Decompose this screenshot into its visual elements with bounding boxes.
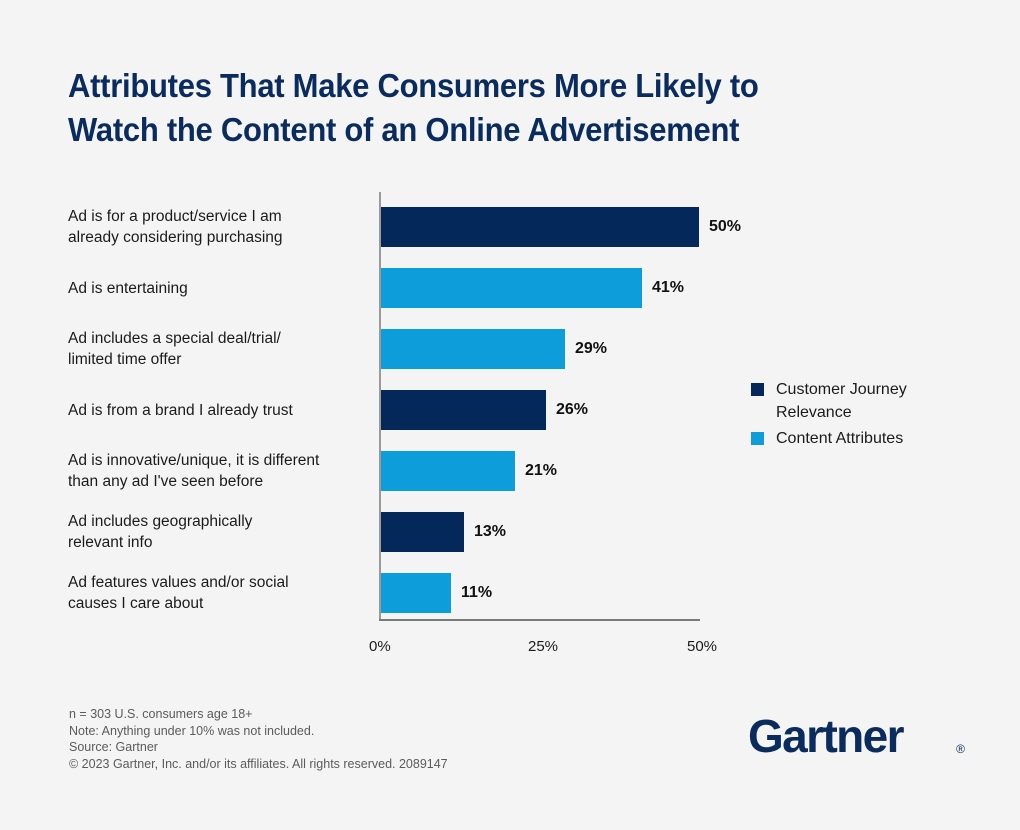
- legend-item[interactable]: Content Attributes: [751, 427, 981, 450]
- legend-color-swatch-icon: [751, 383, 764, 396]
- bar-category-label: Ad is entertaining: [68, 278, 368, 299]
- bar-value-label: 11%: [461, 573, 492, 613]
- bar: [381, 573, 451, 613]
- bar: [381, 329, 565, 369]
- bar: [381, 512, 464, 552]
- registered-trademark-icon: ®: [956, 742, 965, 756]
- bar: [381, 451, 515, 491]
- bar-category-label: Ad includes geographically relevant info: [68, 511, 368, 553]
- gartner-logo-text: Gartner: [748, 710, 903, 762]
- chart-page: Attributes That Make Consumers More Like…: [0, 0, 1020, 830]
- legend-item[interactable]: Customer Journey Relevance: [751, 378, 981, 424]
- bar-value-label: 21%: [525, 451, 557, 491]
- bar-value-label: 41%: [652, 268, 684, 308]
- legend-label: Content Attributes: [776, 427, 903, 450]
- x-axis-tick-label: 25%: [528, 638, 558, 655]
- bar-category-label: Ad includes a special deal/trial/ limite…: [68, 328, 368, 370]
- bar-value-label: 26%: [556, 390, 588, 430]
- x-axis-tick-label: 0%: [369, 638, 391, 655]
- chart-legend: Customer Journey RelevanceContent Attrib…: [751, 378, 981, 453]
- legend-color-swatch-icon: [751, 432, 764, 445]
- footnote-line: © 2023 Gartner, Inc. and/or its affiliat…: [69, 756, 589, 773]
- gartner-logo: Gartner ®: [748, 712, 963, 760]
- bar: [381, 268, 642, 308]
- bar-category-label: Ad is for a product/service I am already…: [68, 206, 368, 248]
- footnote-line: n = 303 U.S. consumers age 18+: [69, 706, 589, 723]
- bar-value-label: 50%: [709, 207, 741, 247]
- bar-category-label: Ad is innovative/unique, it is different…: [68, 450, 368, 492]
- bar-category-label: Ad is from a brand I already trust: [68, 400, 368, 421]
- bar-value-label: 13%: [474, 512, 506, 552]
- x-axis-line: [379, 619, 700, 621]
- bar-category-label: Ad features values and/or social causes …: [68, 572, 368, 614]
- bar: [381, 207, 699, 247]
- legend-label: Customer Journey Relevance: [776, 378, 907, 424]
- bar: [381, 390, 546, 430]
- footnotes: n = 303 U.S. consumers age 18+Note: Anyt…: [69, 706, 589, 772]
- x-axis-tick-label: 50%: [687, 638, 717, 655]
- footnote-line: Note: Anything under 10% was not include…: [69, 723, 589, 740]
- bar-value-label: 29%: [575, 329, 607, 369]
- footnote-line: Source: Gartner: [69, 739, 589, 756]
